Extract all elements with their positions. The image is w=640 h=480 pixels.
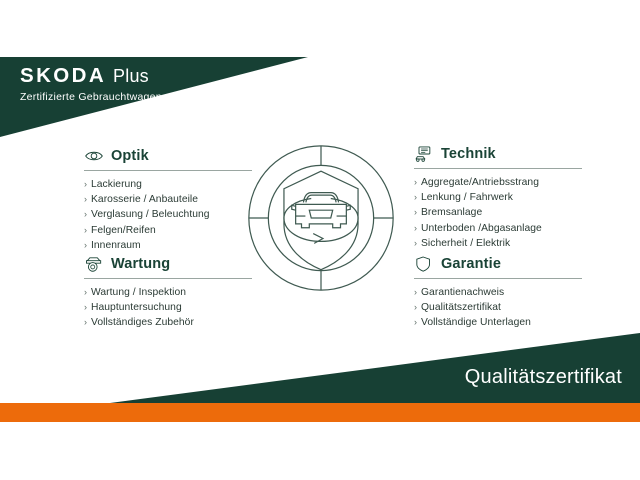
section-garantie-rule bbox=[414, 278, 582, 279]
chevron-right-icon: › bbox=[84, 315, 91, 330]
list-item-label: Bremsanlage bbox=[421, 207, 482, 218]
list-item: ›Sicherheit / Elektrik bbox=[414, 236, 582, 251]
list-item: ›Qualitätszertifikat bbox=[414, 300, 582, 315]
orange-bottom-bar bbox=[0, 403, 640, 422]
list-item-label: Karosserie / Anbauteile bbox=[91, 194, 198, 205]
list-item-label: Unterboden /Abgasanlage bbox=[421, 223, 542, 234]
chevron-right-icon: › bbox=[414, 175, 421, 190]
section-garantie-title: Garantie bbox=[441, 256, 501, 272]
certificate-graphic: SKODA Plus Zertifizierte Gebrauchtwagen … bbox=[0, 0, 640, 480]
list-item-label: Vollständige Unterlagen bbox=[421, 317, 531, 328]
section-optik-header: Optik bbox=[84, 146, 252, 166]
chevron-right-icon: › bbox=[84, 223, 91, 238]
list-item-label: Qualitätszertifikat bbox=[421, 302, 501, 313]
list-item: ›Felgen/Reifen bbox=[84, 223, 252, 238]
chevron-right-icon: › bbox=[414, 205, 421, 220]
list-item: ›Garantienachweis bbox=[414, 285, 582, 300]
section-garantie-list: ›Garantienachweis ›Qualitätszertifikat ›… bbox=[414, 285, 582, 331]
list-item: ›Bremsanlage bbox=[414, 205, 582, 220]
list-item-label: Verglasung / Beleuchtung bbox=[91, 209, 210, 220]
car-service-icon bbox=[84, 255, 104, 273]
list-item: ›Hauptuntersuchung bbox=[84, 300, 252, 315]
section-wartung-title: Wartung bbox=[111, 256, 170, 272]
section-technik: Technik ›Aggregate/Antriebsstrang ›Lenku… bbox=[414, 144, 582, 251]
list-item: ›Wartung / Inspektion bbox=[84, 285, 252, 300]
section-garantie: Garantie ›Garantienachweis ›Qualitätszer… bbox=[414, 254, 582, 331]
list-item: ›Vollständiges Zubehör bbox=[84, 315, 252, 330]
list-item-label: Innenraum bbox=[91, 240, 141, 251]
section-garantie-header: Garantie bbox=[414, 254, 582, 274]
section-technik-title: Technik bbox=[441, 146, 496, 162]
orbit-ellipse-back bbox=[331, 199, 358, 219]
section-technik-rule bbox=[414, 168, 582, 169]
list-item: ›Verglasung / Beleuchtung bbox=[84, 207, 252, 222]
brand-tagline: Zertifizierte Gebrauchtwagen bbox=[20, 92, 162, 103]
chevron-right-icon: › bbox=[84, 192, 91, 207]
car-front-icon bbox=[292, 193, 351, 228]
section-optik-title: Optik bbox=[111, 148, 149, 164]
list-item: ›Aggregate/Antriebsstrang bbox=[414, 175, 582, 190]
chevron-right-icon: › bbox=[414, 315, 421, 330]
chevron-right-icon: › bbox=[84, 207, 91, 222]
chevron-right-icon: › bbox=[84, 285, 91, 300]
section-optik-rule bbox=[84, 170, 252, 171]
chevron-right-icon: › bbox=[84, 300, 91, 315]
chevron-right-icon: › bbox=[414, 190, 421, 205]
section-optik-list: ›Lackierung ›Karosserie / Anbauteile ›Ve… bbox=[84, 177, 252, 253]
list-item-label: Sicherheit / Elektrik bbox=[421, 238, 510, 249]
list-item: ›Lenkung / Fahrwerk bbox=[414, 190, 582, 205]
chevron-right-icon: › bbox=[84, 238, 91, 253]
brand-plus: Plus bbox=[113, 67, 149, 85]
eye-icon bbox=[84, 147, 104, 165]
list-item: ›Lackierung bbox=[84, 177, 252, 192]
chevron-right-icon: › bbox=[414, 221, 421, 236]
section-wartung-list: ›Wartung / Inspektion ›Hauptuntersuchung… bbox=[84, 285, 252, 331]
list-item-label: Felgen/Reifen bbox=[91, 225, 156, 236]
brand-logo-top: SKODA Plus bbox=[20, 66, 162, 87]
chevron-right-icon: › bbox=[414, 236, 421, 251]
list-item: ›Vollständige Unterlagen bbox=[414, 315, 582, 330]
shield-icon bbox=[414, 255, 434, 273]
chevron-right-icon: › bbox=[414, 300, 421, 315]
footer-caption: Qualitätszertifikat bbox=[465, 366, 622, 389]
section-technik-list: ›Aggregate/Antriebsstrang ›Lenkung / Fah… bbox=[414, 175, 582, 251]
car-shield-emblem bbox=[243, 140, 399, 296]
chevron-right-icon: › bbox=[414, 285, 421, 300]
chevron-right-icon: › bbox=[84, 177, 91, 192]
list-item-label: Lackierung bbox=[91, 179, 142, 190]
list-item: ›Innenraum bbox=[84, 238, 252, 253]
list-item: ›Karosserie / Anbauteile bbox=[84, 192, 252, 207]
section-wartung: Wartung ›Wartung / Inspektion ›Hauptunte… bbox=[84, 254, 252, 331]
brand-name: SKODA bbox=[20, 66, 106, 87]
list-item-label: Lenkung / Fahrwerk bbox=[421, 192, 513, 203]
list-item-label: Garantienachweis bbox=[421, 287, 504, 298]
brand-logo: SKODA Plus Zertifizierte Gebrauchtwagen bbox=[20, 66, 162, 102]
list-item-label: Vollständiges Zubehör bbox=[91, 317, 194, 328]
list-item: ›Unterboden /Abgasanlage bbox=[414, 221, 582, 236]
section-optik: Optik ›Lackierung ›Karosserie / Anbautei… bbox=[84, 146, 252, 253]
list-item-label: Hauptuntersuchung bbox=[91, 302, 182, 313]
section-technik-header: Technik bbox=[414, 144, 582, 164]
list-item-label: Wartung / Inspektion bbox=[91, 287, 186, 298]
orbit-ellipse-back2 bbox=[284, 199, 311, 219]
section-wartung-header: Wartung bbox=[84, 254, 252, 274]
list-item-label: Aggregate/Antriebsstrang bbox=[421, 177, 539, 188]
car-lift-icon bbox=[414, 145, 434, 163]
section-wartung-rule bbox=[84, 278, 252, 279]
